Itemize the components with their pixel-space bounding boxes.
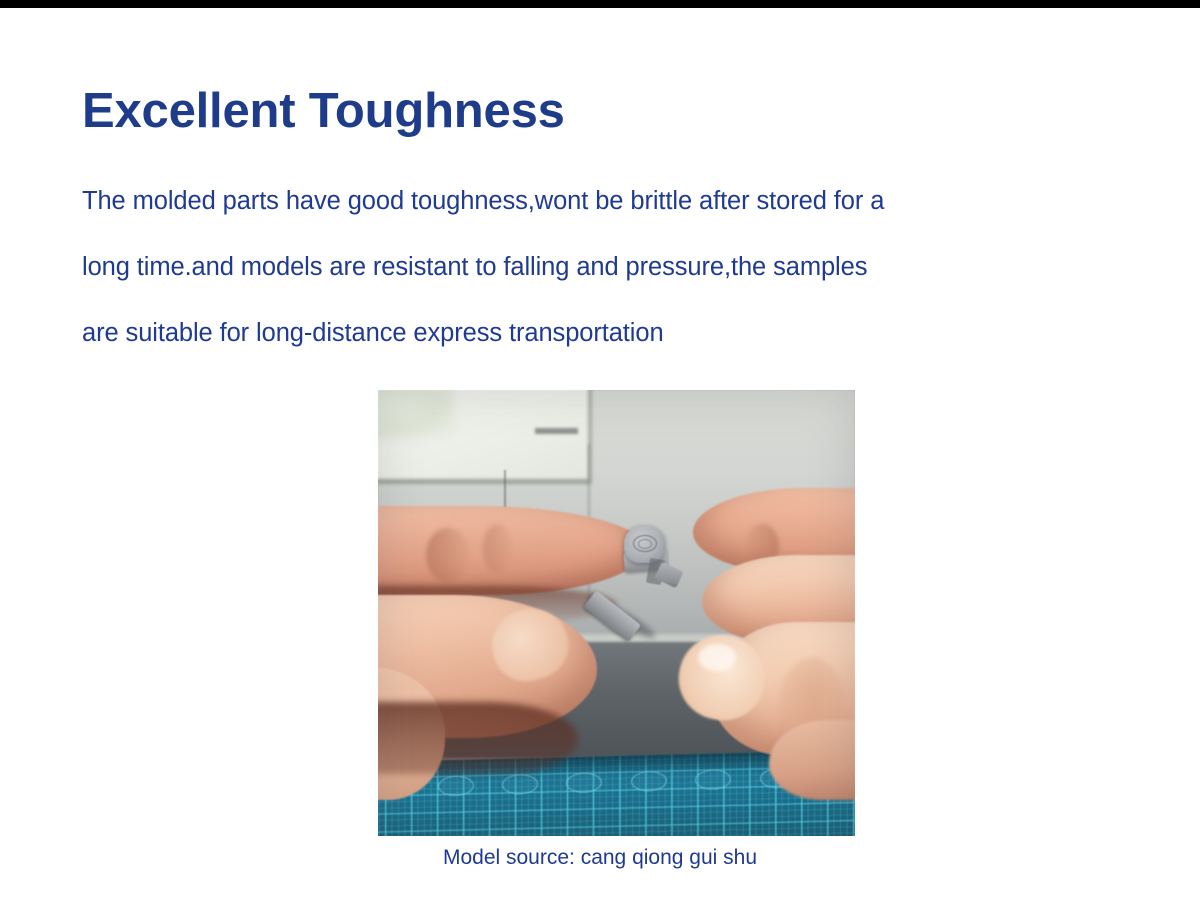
top-black-bar (0, 0, 1200, 8)
body-line-3: are suitable for long-distance express t… (82, 300, 1152, 366)
photo-caption: Model source: cang qiong gui shu (0, 846, 1200, 870)
left-hand-index-crease-2 (483, 524, 512, 573)
photo-wall-panel-label (535, 428, 578, 434)
page-title: Excellent Toughness (82, 86, 565, 137)
body-line-2: long time.and models are resistant to fa… (82, 234, 1152, 300)
body-line-1: The molded parts have good toughness,won… (82, 168, 1152, 234)
left-hand-lower-shadow (378, 702, 578, 773)
slide-canvas: Excellent Toughness The molded parts hav… (0, 8, 1200, 900)
right-hand-thumbnail-highlight (698, 644, 736, 671)
photo-content (378, 390, 855, 836)
left-hand-index-crease (426, 528, 469, 582)
body-text-block: The molded parts have good toughness,won… (82, 168, 1152, 366)
photo-wall-panel-reflection (378, 390, 454, 439)
product-photo (378, 390, 855, 836)
model-part-head-inner-ring (638, 539, 651, 549)
